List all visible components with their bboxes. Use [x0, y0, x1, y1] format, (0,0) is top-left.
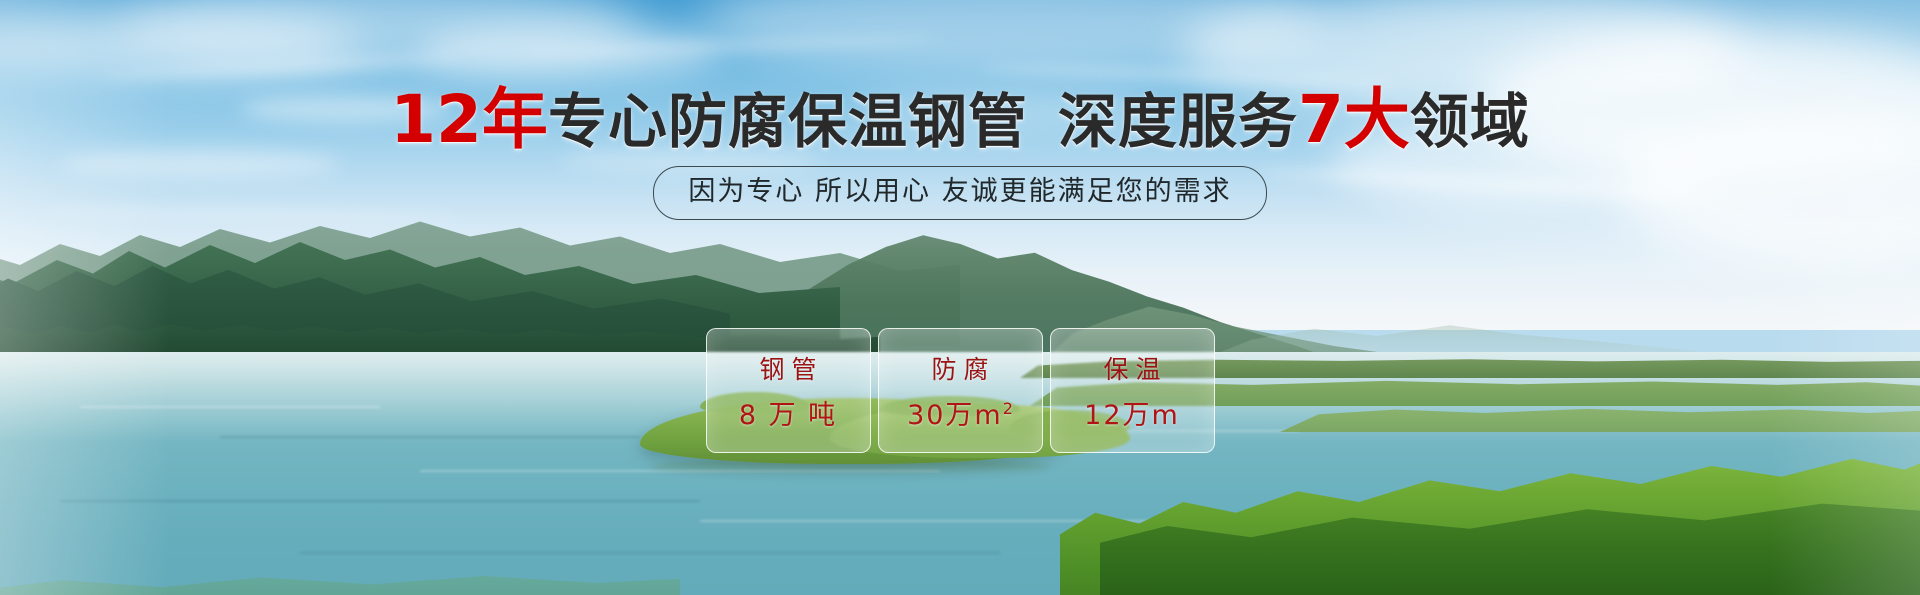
stat-card-anticorrosion[interactable]: 防腐 30万m2 [878, 328, 1043, 453]
stat-card-title: 防腐 [924, 350, 995, 386]
hero-banner: 12年专心防腐保温钢管深度服务7大领域 因为专心 所以用心 友诚更能满足您的需求… [0, 0, 1920, 595]
stat-card-insulation[interactable]: 保温 12万m [1050, 328, 1215, 453]
banner-subtitle-wrap: 因为专心 所以用心 友诚更能满足您的需求 [0, 166, 1920, 220]
headline-fields: 领域 [1410, 87, 1530, 156]
stat-card-value: 8 万 吨 [739, 393, 837, 432]
stat-value-text: 30万m [907, 400, 1003, 431]
stat-card-value: 30万m2 [907, 393, 1013, 432]
banner-headline: 12年专心防腐保温钢管深度服务7大领域 [0, 85, 1920, 154]
stat-card-steel-pipe[interactable]: 钢管 8 万 吨 [706, 328, 871, 453]
headline-service: 深度服务 [1058, 87, 1298, 156]
stat-card-value: 12万m [1084, 393, 1180, 432]
stat-card-list: 钢管 8 万 吨 防腐 30万m2 保温 12万m [0, 328, 1920, 453]
banner-content: 12年专心防腐保温钢管深度服务7大领域 因为专心 所以用心 友诚更能满足您的需求… [0, 0, 1920, 595]
stat-card-title: 保温 [1096, 350, 1167, 386]
headline-main: 专心防腐保温钢管 [548, 87, 1028, 156]
headline-fields-count: 7大 [1298, 81, 1410, 158]
headline-years: 12年 [390, 81, 548, 158]
stat-value-text: 8 万 吨 [739, 400, 837, 431]
stat-card-title: 钢管 [752, 350, 823, 386]
stat-value-text: 12万m [1084, 400, 1180, 431]
banner-subtitle: 因为专心 所以用心 友诚更能满足您的需求 [653, 166, 1266, 220]
stat-value-exponent: 2 [1003, 399, 1013, 418]
